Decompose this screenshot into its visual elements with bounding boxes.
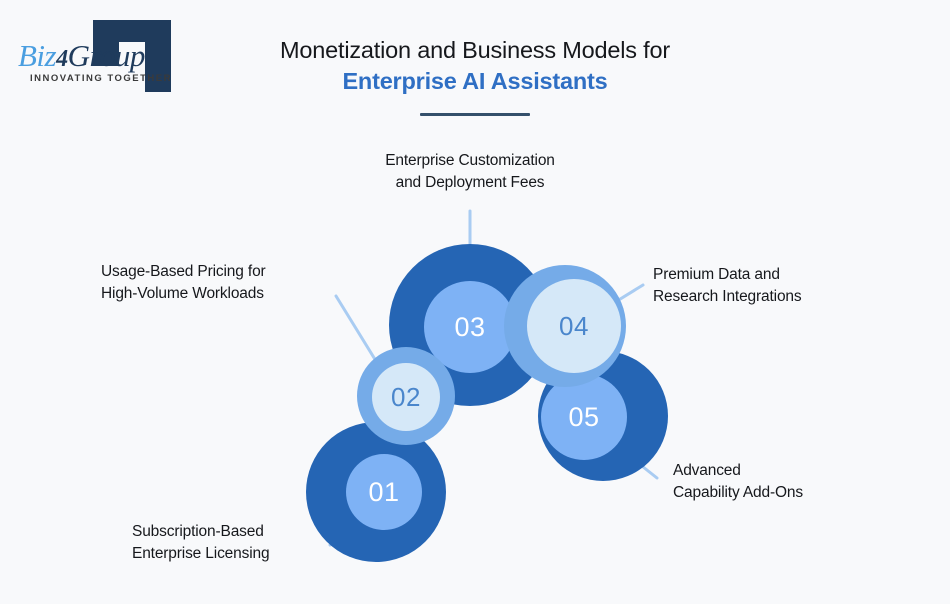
circle-node-02[interactable]: 02: [357, 347, 455, 445]
circle-number-02: 02: [391, 382, 421, 412]
node-label-01: Subscription-Based Enterprise Licensing: [132, 521, 269, 565]
node-label-03: Enterprise Customization and Deployment …: [352, 150, 588, 194]
infographic-canvas: Biz4Group INNOVATING TOGETHER Monetizati…: [0, 0, 950, 604]
circle-number-03: 03: [454, 312, 485, 342]
circle-nodes-group: 0103050204: [306, 244, 668, 562]
circle-number-01: 01: [368, 477, 399, 507]
node-label-05: Advanced Capability Add-Ons: [673, 460, 803, 504]
circle-node-04[interactable]: 04: [504, 265, 626, 387]
circle-number-04: 04: [559, 311, 589, 341]
node-label-04: Premium Data and Research Integrations: [653, 264, 802, 308]
circle-number-05: 05: [568, 402, 599, 432]
node-label-02: Usage-Based Pricing for High-Volume Work…: [101, 261, 266, 305]
circle-node-01[interactable]: 01: [306, 422, 446, 562]
